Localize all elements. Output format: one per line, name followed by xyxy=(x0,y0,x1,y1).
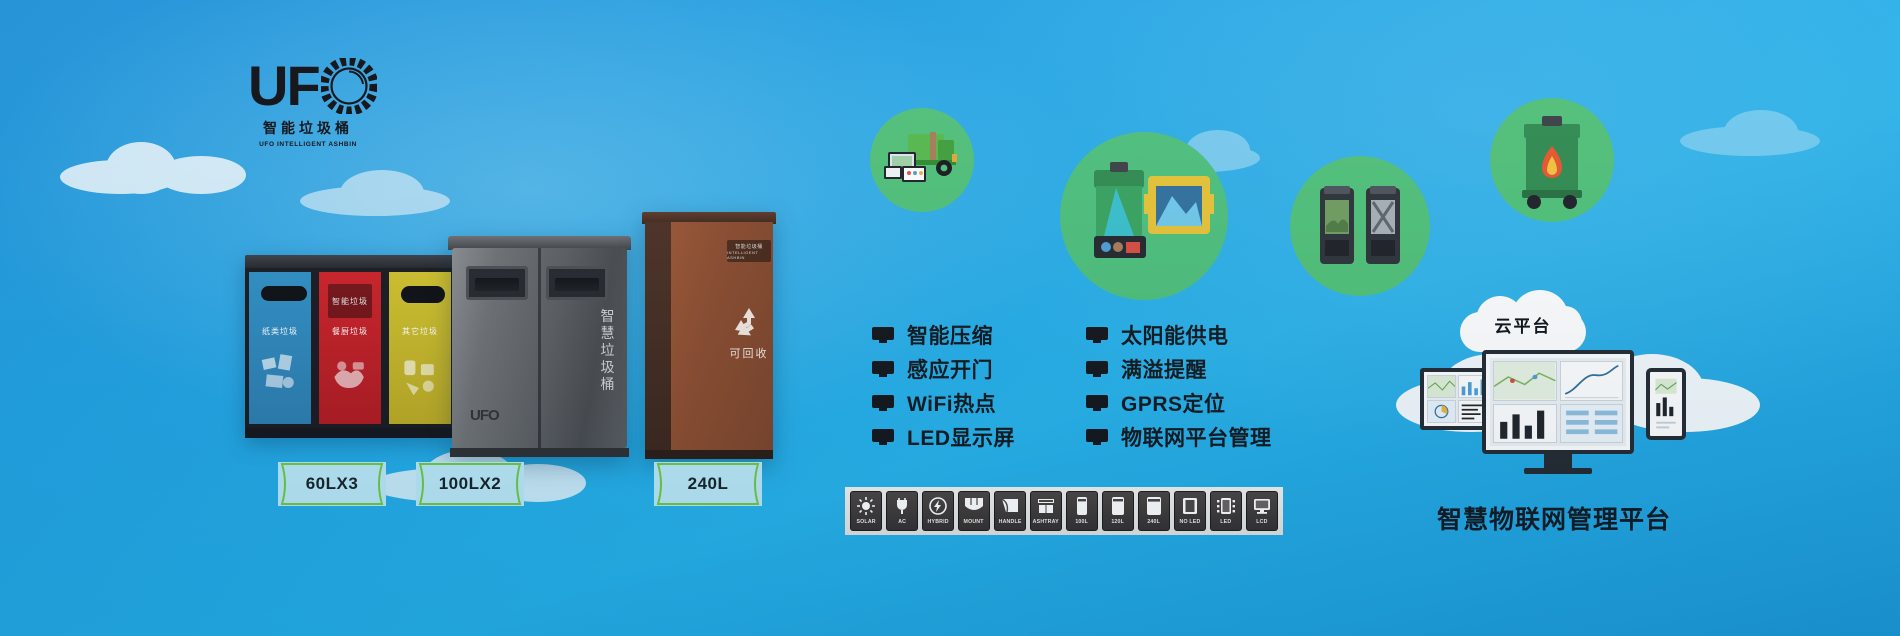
bin-two-bay-window-left xyxy=(466,266,528,300)
bin-100l-icon xyxy=(1069,495,1095,517)
bin-single-240l: 智能垃圾桶 INTELLIGENT ASHBIN 可回收 xyxy=(645,222,773,450)
dashboard-grid-panel xyxy=(1560,404,1624,444)
capacity-badge-60lx3-label: 60LX3 xyxy=(306,474,359,494)
option-label: LCD xyxy=(1256,519,1267,525)
wall-mount-icon xyxy=(961,495,987,517)
capacity-badge-60lx3: 60LX3 xyxy=(278,462,386,506)
bin-slot-icon xyxy=(401,286,445,303)
monitor-stand xyxy=(1544,454,1572,468)
lcd-screen-icon xyxy=(1249,495,1275,517)
monitor-bullet-icon xyxy=(1086,327,1108,343)
feature-label: 智能压缩 xyxy=(907,320,993,350)
feature-item: GPRS定位 xyxy=(1086,386,1272,420)
cloud-shape: 云平台 xyxy=(1460,290,1586,352)
plug-icon xyxy=(889,495,915,517)
ashtray-icon xyxy=(1033,495,1059,517)
bin-two-bay-brand: UFO xyxy=(470,407,499,424)
option-240l[interactable]: 240L xyxy=(1138,491,1170,531)
option-label: AC xyxy=(898,519,906,525)
option-label: NO LED xyxy=(1180,519,1201,525)
option-lcd[interactable]: LCD xyxy=(1246,491,1278,531)
option-label: 240L xyxy=(1148,519,1161,525)
cloud-platform-bubble: 云平台 xyxy=(1460,290,1586,352)
monitor-bullet-icon xyxy=(872,395,894,411)
bin-slot-icon xyxy=(261,286,307,301)
bin-240l-icon xyxy=(1141,495,1167,517)
option-100l[interactable]: 100L xyxy=(1066,491,1098,531)
platform-devices xyxy=(1420,350,1700,480)
hybrid-power-icon xyxy=(925,495,951,517)
option-label: 120L xyxy=(1112,519,1125,525)
bin-single-recycle-block: 可回收 xyxy=(721,306,777,361)
dashboard-bar-panel xyxy=(1493,404,1557,444)
capacity-badges: 60LX3 100LX2 240L xyxy=(0,462,800,516)
option-label: HYBRID xyxy=(927,519,948,525)
bin-bay-kitchen-label: 餐厨垃圾 xyxy=(319,326,381,337)
feature-circle-fill-sensor xyxy=(1060,132,1228,300)
option-hybrid[interactable]: HYBRID xyxy=(922,491,954,531)
capacity-badge-240l-label: 240L xyxy=(688,474,729,494)
feature-label: 物联网平台管理 xyxy=(1121,422,1272,452)
feature-item: WiFi热点 xyxy=(872,386,1015,420)
bin-single-recycle-label: 可回收 xyxy=(721,345,777,361)
feature-circle-compaction-bins xyxy=(1290,156,1430,296)
tablet-cell xyxy=(1427,400,1456,423)
monitor-screen xyxy=(1490,358,1626,446)
sun-icon xyxy=(853,495,879,517)
bin-two-bay-base xyxy=(450,448,629,457)
feature-label: 满溢提醒 xyxy=(1121,354,1207,384)
feature-label: WiFi热点 xyxy=(907,388,996,418)
monitor-bullet-icon xyxy=(872,361,894,377)
bin-single-panel: 智能垃圾桶 INTELLIGENT ASHBIN xyxy=(727,240,771,262)
feature-label: 太阳能供电 xyxy=(1121,320,1229,350)
capacity-badge-100lx2-label: 100LX2 xyxy=(439,474,502,494)
option-handle[interactable]: HANDLE xyxy=(994,491,1026,531)
phone-device xyxy=(1646,368,1686,440)
option-solar[interactable]: SOLAR xyxy=(850,491,882,531)
tablet-cell xyxy=(1427,375,1456,398)
option-120l[interactable]: 120L xyxy=(1102,491,1134,531)
monitor-foot xyxy=(1524,468,1592,474)
monitor-bullet-icon xyxy=(1086,395,1108,411)
option-no-led[interactable]: NO LED xyxy=(1174,491,1206,531)
no-led-icon xyxy=(1177,495,1203,517)
feature-column-left: 智能压缩 感应开门 WiFi热点 LED显示屏 xyxy=(872,318,1015,454)
bin-bay-kitchen-panel: 智能垃圾 xyxy=(328,284,372,318)
banner-stage: UF 智能垃圾桶 UFO INTELLIGENT ASHBIN 纸类垃圾 xyxy=(0,0,1900,636)
option-label: LED xyxy=(1220,519,1231,525)
platform-title: 智慧物联网管理平台 xyxy=(1404,500,1704,536)
feature-item: 太阳能供电 xyxy=(1086,318,1272,352)
option-led[interactable]: LED xyxy=(1210,491,1242,531)
bin-bay-kitchen-panel-text: 智能垃圾 xyxy=(332,296,368,307)
monitor-bullet-icon xyxy=(872,327,894,343)
feature-item: 满溢提醒 xyxy=(1086,352,1272,386)
option-label: HANDLE xyxy=(999,519,1022,525)
bin-three-bay-base xyxy=(245,428,455,438)
bin-two-bay-body: 智慧垃圾桶 UFO xyxy=(452,248,627,448)
monitor-bullet-icon xyxy=(1086,361,1108,377)
option-ac[interactable]: AC xyxy=(886,491,918,531)
monitor-bullet-icon xyxy=(1086,429,1108,445)
desktop-monitor xyxy=(1482,350,1634,454)
feature-item: LED显示屏 xyxy=(872,420,1015,454)
feature-label: GPRS定位 xyxy=(1121,388,1226,418)
bin-bay-other: 其它垃圾 xyxy=(385,268,455,428)
cloud-platform-label: 云平台 xyxy=(1460,312,1586,337)
bin-three-bay: 纸类垃圾 智能垃圾 餐厨垃圾 xyxy=(245,268,455,428)
feature-column-right: 太阳能供电 满溢提醒 GPRS定位 物联网平台管理 xyxy=(1086,318,1272,454)
feature-label: LED显示屏 xyxy=(907,422,1015,452)
feature-item: 智能压缩 xyxy=(872,318,1015,352)
option-ashtray[interactable]: ASHTRAY xyxy=(1030,491,1062,531)
bin-bay-paper-label: 纸类垃圾 xyxy=(249,326,311,337)
option-label: MOUNT xyxy=(964,519,984,525)
bin-single-panel-line1: 智能垃圾桶 xyxy=(735,243,763,250)
dashboard-chart-panel xyxy=(1560,361,1624,401)
capacity-badge-240l: 240L xyxy=(654,462,762,506)
bin-two-bay-side-text: 智慧垃圾桶 xyxy=(599,308,617,393)
dashboard-map-panel xyxy=(1493,361,1557,401)
monitor-bullet-icon xyxy=(872,429,894,445)
feature-circle-fire-detection xyxy=(1490,98,1614,222)
bin-bay-other-label: 其它垃圾 xyxy=(389,326,451,337)
bin-bay-paper-art xyxy=(257,340,303,414)
feature-circle-collection-truck xyxy=(870,108,974,212)
bin-bay-kitchen: 智能垃圾 餐厨垃圾 xyxy=(315,268,385,428)
feature-item: 物联网平台管理 xyxy=(1086,420,1272,454)
led-panel-icon xyxy=(1213,495,1239,517)
option-mount[interactable]: MOUNT xyxy=(958,491,990,531)
bin-120l-icon xyxy=(1105,495,1131,517)
option-label: ASHTRAY xyxy=(1033,519,1059,525)
bin-single-side xyxy=(645,222,671,450)
option-label: 100L xyxy=(1076,519,1089,525)
bin-single-face: 智能垃圾桶 INTELLIGENT ASHBIN 可回收 xyxy=(671,222,773,450)
bin-bay-paper: 纸类垃圾 xyxy=(245,268,315,428)
capacity-badge-100lx2: 100LX2 xyxy=(416,462,524,506)
handle-icon xyxy=(997,495,1023,517)
option-strip: SOLAR AC HYBRID xyxy=(845,487,1283,535)
bin-single-base xyxy=(645,450,773,459)
bin-two-bay: 智慧垃圾桶 UFO xyxy=(452,248,627,448)
feature-item: 感应开门 xyxy=(872,352,1015,386)
option-label: SOLAR xyxy=(856,519,875,525)
bin-two-bay-divider xyxy=(538,248,541,448)
bin-two-bay-window-right xyxy=(546,266,608,300)
feature-label: 感应开门 xyxy=(907,354,993,384)
bin-bay-other-art xyxy=(397,340,443,414)
bin-single-panel-line2: INTELLIGENT ASHBIN xyxy=(727,250,771,260)
recycle-icon xyxy=(732,306,766,336)
bin-bay-kitchen-art xyxy=(327,340,373,414)
